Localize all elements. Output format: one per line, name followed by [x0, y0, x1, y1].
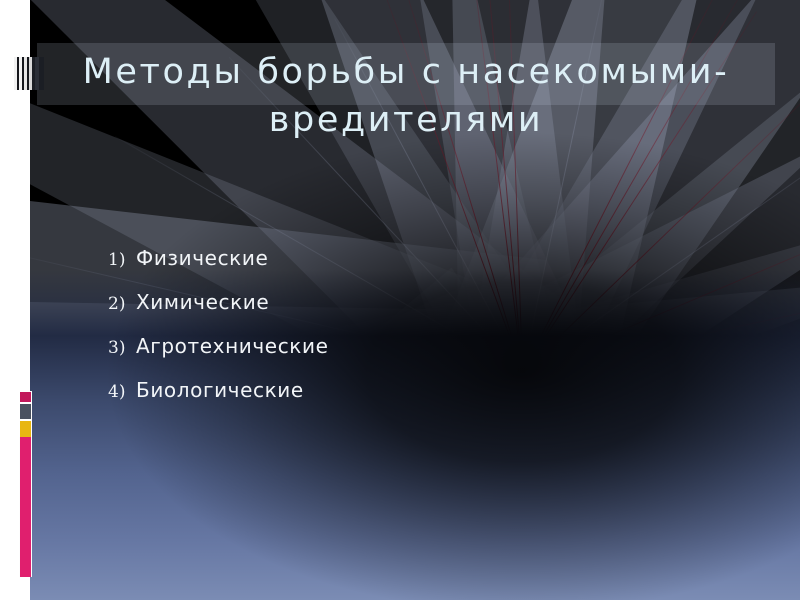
list-item: 3)Агротехнические: [108, 334, 329, 358]
list-item-number: 3): [108, 338, 136, 358]
accent-chip-gold: [19, 420, 32, 438]
list-item: 2)Химические: [108, 290, 329, 314]
page-title: Методы борьбы с насекомыми- вредителями: [37, 43, 775, 138]
list-item-number: 1): [108, 250, 136, 270]
list-item-number: 2): [108, 294, 136, 314]
list-item-number: 4): [108, 382, 136, 402]
list-item: 1)Физические: [108, 246, 329, 270]
vertical-stripes-ornament-icon: [14, 57, 44, 90]
accent-bar-magenta: [19, 437, 32, 577]
presentation-slide: Методы борьбы с насекомыми- вредителями …: [0, 0, 800, 600]
title-line-2: вредителями: [37, 90, 775, 138]
list-item: 4)Биологические: [108, 378, 329, 402]
accent-chip-magenta: [19, 391, 32, 403]
title-line-1: Методы борьбы с насекомыми-: [37, 43, 775, 90]
list-item-label: Агротехнические: [136, 334, 329, 358]
list-item-label: Биологические: [136, 378, 304, 402]
list-item-label: Химические: [136, 290, 269, 314]
ornament-bar-9: [39, 57, 44, 90]
numbered-list: 1)Физические2)Химические3)Агротехнически…: [108, 246, 329, 422]
accent-chip-stack: [19, 391, 32, 438]
list-item-label: Физические: [136, 246, 268, 270]
accent-chip-slate: [19, 403, 32, 420]
